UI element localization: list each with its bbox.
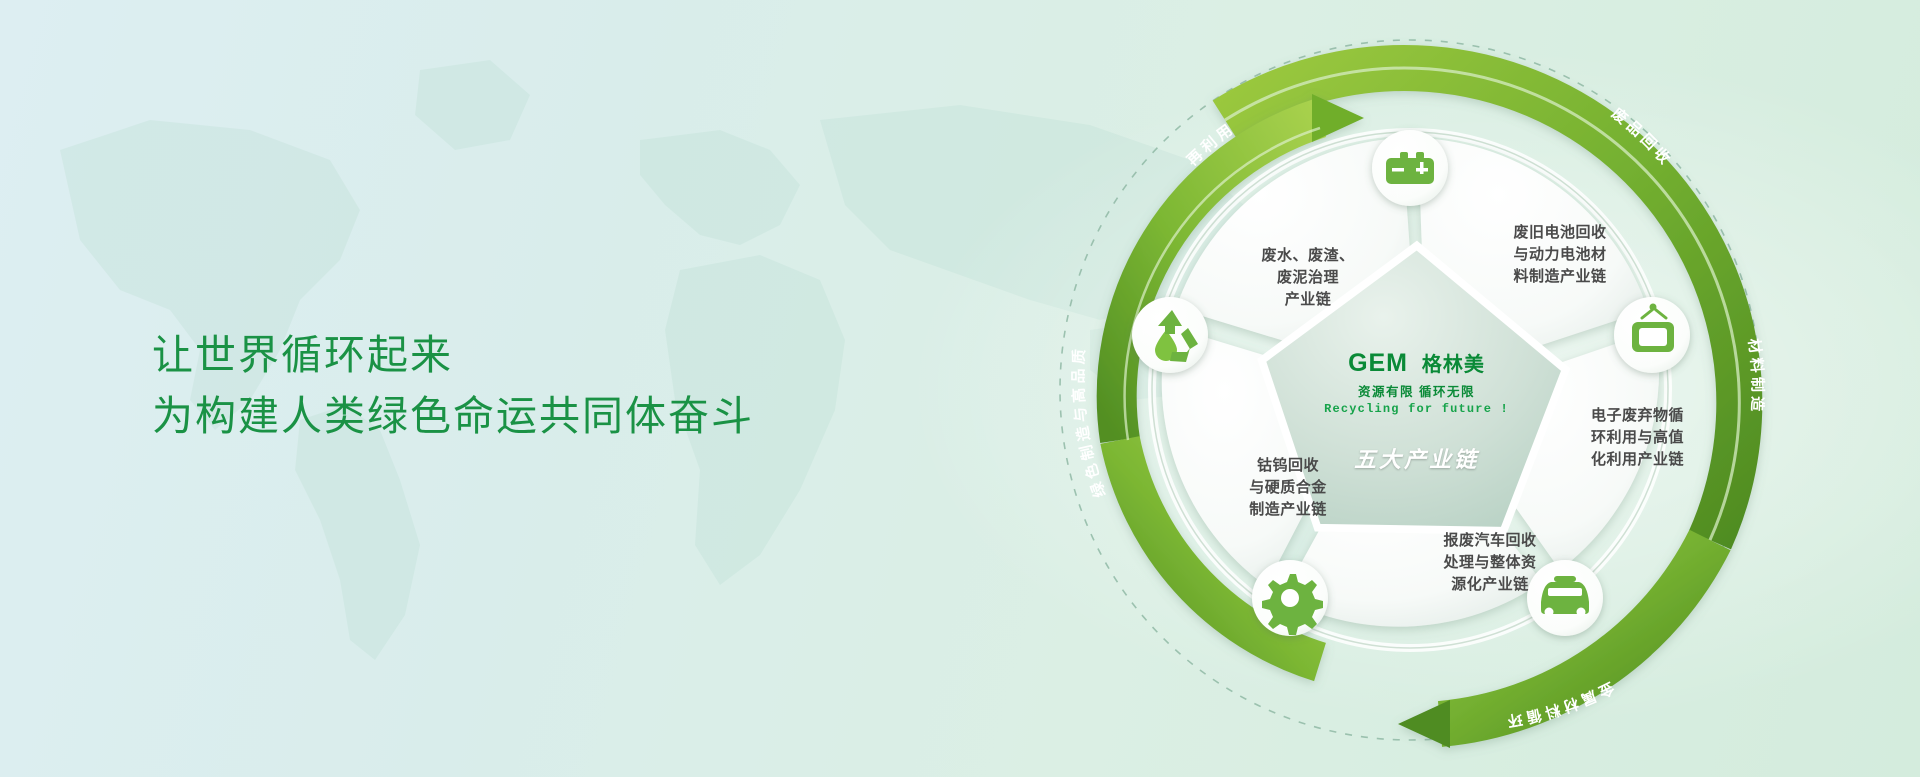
- page-title: 让世界循环起来 为构建人类绿色命运共同体奋斗: [152, 325, 754, 446]
- headline-line-2: 为构建人类绿色命运共同体奋斗: [152, 386, 754, 447]
- badge-gear[interactable]: [1252, 560, 1328, 636]
- center-title: 五大产业链: [1309, 442, 1524, 474]
- badge-television[interactable]: [1614, 297, 1690, 373]
- logo-tagline-en: Recycling for future !: [1309, 402, 1524, 416]
- chain-label-vehicle: 报废汽车回收 处理与整体资 源化产业链: [1405, 530, 1575, 595]
- five-industry-chains-diagram: 废品回收 材料制造 金属材料循环 绿色制造与高品质 再利用 废旧电池回收 与动力…: [1020, 10, 1800, 770]
- logo-wordmark: GEM: [1348, 351, 1408, 376]
- badge-water-recycle[interactable]: [1132, 297, 1208, 373]
- logo-chinese-name: 格林美: [1422, 354, 1485, 376]
- chain-label-ewaste: 电子废弃物循 环利用与高值 化利用产业链: [1550, 405, 1725, 470]
- gear-icon: [1262, 574, 1323, 635]
- badge-battery[interactable]: [1372, 130, 1448, 206]
- chain-label-wastewater: 废水、废渣、 废泥治理 产业链: [1228, 245, 1388, 310]
- logo-tagline-cn: 资源有限 循环无限: [1309, 381, 1524, 400]
- chain-label-battery: 废旧电池回收 与动力电池材 料制造产业链: [1475, 222, 1645, 287]
- headline-line-1: 让世界循环起来: [152, 325, 754, 386]
- gem-logo: GEM 格林美 资源有限 循环无限 Recycling for future !: [1309, 348, 1524, 416]
